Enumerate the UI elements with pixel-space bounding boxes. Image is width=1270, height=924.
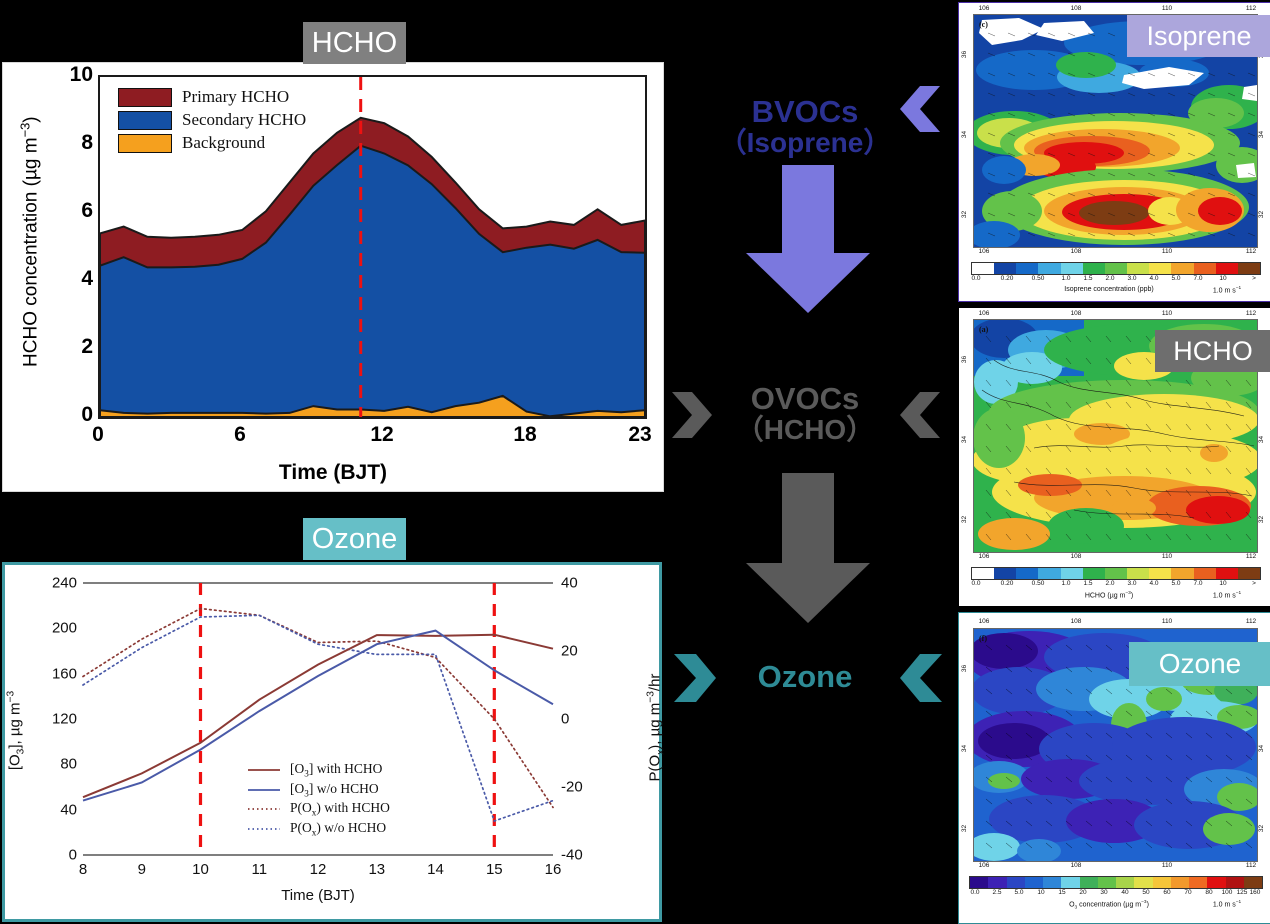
ozone-lat-left: 34: [961, 745, 968, 752]
cb-seg: [1061, 877, 1079, 888]
hcho-ytick: 8: [63, 131, 93, 155]
chevron-right-icon-ovocs: [670, 390, 714, 440]
cb-tick: 0.0: [971, 580, 980, 587]
ozone-lon-top: 110: [1162, 618, 1172, 625]
hcho-lon-top: 112: [1246, 310, 1256, 317]
cb-seg: [1171, 877, 1189, 888]
cb-tick: 1.5: [1083, 275, 1092, 282]
ozone-lon-bottom: 110: [1162, 862, 1172, 869]
cb-seg: [1105, 568, 1127, 579]
isoprene-lon-bottom: 106: [979, 248, 990, 255]
flow-node-ovocs-line1: OVOCs: [690, 382, 920, 415]
ozone-lon-bottom: 112: [1246, 862, 1256, 869]
cb-tick: 40: [1121, 889, 1128, 896]
cb-seg: [1127, 568, 1149, 579]
flow-node-bvocs-line2: （Isoprene）: [690, 128, 920, 158]
ozone-right-ytick: -20: [561, 779, 601, 796]
cb-seg: [1216, 568, 1238, 579]
cb-tick: 7.0: [1193, 275, 1202, 282]
ozone-left-ytick: 80: [33, 756, 77, 773]
ozone-x-axis-label: Time (BJT): [83, 887, 553, 904]
cb-seg: [972, 263, 994, 274]
cb-seg: [1189, 877, 1207, 888]
ozone-right-y-axis-label: P(Ox), µg m−3/hr: [646, 638, 667, 818]
badge-isoprene-map: Isoprene: [1127, 15, 1270, 57]
cb-seg: [1083, 568, 1105, 579]
hcho-xtick: 6: [234, 423, 246, 447]
isoprene-lon-bottom: 110: [1162, 248, 1172, 255]
cb-tick: 3.0: [1127, 275, 1136, 282]
ozone-lat-left: 36: [961, 665, 968, 672]
hcho-lon-top: 110: [1162, 310, 1172, 317]
ozone-right-ytick: 0: [561, 711, 601, 728]
ozone-legend: [O3] with HCHO [O3] w/o HCHO P(Ox) with …: [247, 761, 390, 838]
hcho-map-panel: 106 108 110 112 36 34 32 36 34 32: [958, 307, 1270, 607]
legend-item-secondary-hcho: Secondary HCHO: [118, 110, 306, 130]
cb-seg: [1244, 877, 1262, 888]
cb-tick: 3.0: [1127, 580, 1136, 587]
flow-node-bvocs-line1: BVOCs: [690, 95, 920, 128]
badge-hcho-map-label: HCHO: [1173, 336, 1253, 367]
legend-item-pox-with-hcho: P(Ox) with HCHO: [247, 800, 390, 818]
ozone-xtick: 8: [79, 861, 87, 878]
cb-tick: 5.0: [1014, 889, 1023, 896]
badge-ozone-chart: Ozone: [303, 518, 406, 560]
ozone-lon-top: 106: [979, 618, 990, 625]
cb-tick: 80: [1205, 889, 1212, 896]
hcho-x-axis-label: Time (BJT): [3, 461, 663, 485]
ozone-map-panel: 106 108 110 112 36 34 32 36 34 32: [958, 612, 1270, 924]
hcho-xtick: 23: [628, 423, 651, 447]
ozone-xtick: 13: [368, 861, 385, 878]
ozone-lat-right: 34: [1258, 745, 1265, 752]
legend-line-o3-with-hcho: [247, 765, 281, 775]
legend-item-pox-wo-hcho: P(Ox) w/o HCHO: [247, 820, 390, 838]
legend-swatch-primary-hcho: [118, 88, 172, 107]
cb-tick: 0.0: [970, 889, 979, 896]
isoprene-lon-top: 110: [1162, 5, 1172, 12]
isoprene-colorbar: [971, 262, 1261, 275]
cb-tick: 50: [1142, 889, 1149, 896]
cb-tick: 70: [1184, 889, 1191, 896]
isoprene-lat-left: 32: [961, 211, 968, 218]
flow-node-ozone: Ozone: [690, 660, 920, 693]
cb-seg: [994, 263, 1016, 274]
cb-tick: 30: [1100, 889, 1107, 896]
ozone-lon-bottom: 108: [1071, 862, 1082, 869]
cb-seg: [1116, 877, 1134, 888]
isoprene-wind-reference: 1.0 m s−1: [1189, 286, 1265, 294]
cb-tick: 1.0: [1061, 275, 1070, 282]
isoprene-lat-right: 34: [1258, 131, 1265, 138]
cb-seg: [1043, 877, 1061, 888]
cb-seg: [972, 568, 994, 579]
ozone-xtick: 12: [310, 861, 327, 878]
cb-seg: [1061, 263, 1083, 274]
hcho-map-panel-tag: (a): [979, 325, 988, 334]
cb-tick: 2.0: [1105, 275, 1114, 282]
hcho-ytick: 2: [63, 335, 93, 359]
cb-seg: [1016, 568, 1038, 579]
cb-seg: [1149, 568, 1171, 579]
ozone-plot-area: [O3] with HCHO [O3] w/o HCHO P(Ox) with …: [83, 583, 553, 855]
ozone-left-ytick: 160: [33, 665, 77, 682]
cb-seg: [1127, 263, 1149, 274]
hcho-plot-area: Primary HCHO Secondary HCHO Background: [98, 75, 647, 419]
flow-node-bvocs: BVOCs （Isoprene）: [690, 95, 920, 159]
cb-seg: [1207, 877, 1225, 888]
cb-tick: 0.50: [1032, 580, 1045, 587]
ozone-right-y-ticks: 40 20 0 -20 -40: [561, 583, 601, 855]
cb-seg: [1007, 877, 1025, 888]
ozone-wind-reference: 1.0 m s−1: [1189, 900, 1265, 908]
ozone-lon-top: 108: [1071, 618, 1082, 625]
hcho-lat-left: 32: [961, 516, 968, 523]
chevron-left-icon-ozone: [898, 652, 944, 704]
cb-tick: 0.20: [1001, 580, 1014, 587]
cb-seg: [1216, 263, 1238, 274]
isoprene-colorbar-labels: 0.0 0.20 0.50 1.0 1.5 2.0 3.0 4.0 5.0 7.…: [971, 275, 1259, 285]
hcho-ytick: 0: [63, 403, 93, 427]
ozone-lon-bottom: 106: [979, 862, 990, 869]
cb-seg: [1238, 263, 1260, 274]
cb-tick: 1.0: [1061, 580, 1070, 587]
ozone-left-y-axis-label: [O3], µg m−3: [6, 651, 27, 811]
legend-label-o3-with-hcho: [O3] with HCHO: [290, 761, 382, 779]
ozone-xtick: 9: [138, 861, 146, 878]
hcho-lon-top: 108: [1071, 310, 1082, 317]
ozone-left-ytick: 120: [33, 711, 77, 728]
cb-seg: [1149, 263, 1171, 274]
arrow-down-icon-bvocs-to-ovocs: [740, 165, 876, 315]
badge-ozone-chart-label: Ozone: [312, 523, 397, 556]
ozone-left-ytick: 40: [33, 801, 77, 818]
legend-line-pox-with-hcho: [247, 804, 281, 814]
cb-tick: 1.5: [1083, 580, 1092, 587]
hcho-wind-reference: 1.0 m s−1: [1189, 591, 1265, 599]
cb-tick: 0.20: [1001, 275, 1014, 282]
hcho-lat-left: 34: [961, 436, 968, 443]
ozone-xtick: 16: [545, 861, 562, 878]
legend-label-primary-hcho: Primary HCHO: [182, 87, 289, 107]
arrow-down-icon-ovocs-to-ozone: [740, 473, 876, 625]
hcho-y-axis-label: HCHO concentration (µg m−3): [17, 77, 42, 407]
badge-hcho-chart: HCHO: [303, 22, 406, 64]
legend-line-pox-wo-hcho: [247, 824, 281, 834]
flow-node-ozone-line1: Ozone: [690, 660, 920, 693]
legend-label-o3-wo-hcho: [O3] w/o HCHO: [290, 781, 379, 799]
ozone-right-ytick: 20: [561, 643, 601, 660]
cb-seg: [988, 877, 1006, 888]
ozone-lat-right: 32: [1258, 825, 1265, 832]
ozone-right-ytick: -40: [561, 847, 601, 864]
hcho-y-ticks: 10 8 6 4 2 0: [51, 75, 93, 415]
ozone-colorbar-labels: 0.0 2.5 5.0 10 15 20 30 40 50 60 70 80 1…: [969, 889, 1261, 899]
ozone-left-y-ticks: 240 200 160 120 80 40 0: [33, 583, 77, 855]
cb-seg: [1080, 877, 1098, 888]
isoprene-lon-top: 106: [979, 5, 990, 12]
series-secondary-hcho-area: [100, 146, 645, 417]
hcho-colorbar-caption: HCHO (µg m−3): [1034, 591, 1184, 599]
legend-item-o3-with-hcho: [O3] with HCHO: [247, 761, 390, 779]
cb-seg: [1171, 568, 1193, 579]
cb-seg: [1016, 263, 1038, 274]
chevron-right-icon-ozone: [672, 652, 718, 704]
ozone-xtick: 14: [427, 861, 444, 878]
cb-tick: 2.5: [992, 889, 1001, 896]
hcho-xtick: 18: [513, 423, 536, 447]
cb-tick: 10: [1219, 580, 1226, 587]
hcho-legend: Primary HCHO Secondary HCHO Background: [118, 87, 306, 153]
cb-seg: [994, 568, 1016, 579]
cb-seg: [1061, 568, 1083, 579]
ozone-xtick: 11: [252, 861, 268, 878]
badge-ozone-map: Ozone: [1129, 642, 1270, 686]
ozone-colorbar-caption: O3 concentration (µg m−3): [1014, 900, 1204, 911]
cb-seg: [1025, 877, 1043, 888]
cb-tick: 0.50: [1032, 275, 1045, 282]
cb-seg: [1038, 263, 1060, 274]
legend-label-secondary-hcho: Secondary HCHO: [182, 110, 306, 130]
cb-tick: 100: [1222, 889, 1233, 896]
cb-seg: [1194, 263, 1216, 274]
badge-hcho-map: HCHO: [1155, 330, 1270, 372]
cb-seg: [1171, 263, 1193, 274]
cb-tick: 4.0: [1149, 275, 1158, 282]
legend-item-o3-wo-hcho: [O3] w/o HCHO: [247, 781, 390, 799]
ozone-left-ytick: 200: [33, 620, 77, 637]
isoprene-lon-top: 108: [1071, 5, 1082, 12]
cb-seg: [1038, 568, 1060, 579]
cb-seg: [970, 877, 988, 888]
cb-tick: 4.0: [1149, 580, 1158, 587]
hcho-lon-bottom: 108: [1071, 553, 1082, 560]
isoprene-lat-right: 32: [1258, 211, 1265, 218]
cb-tick: 60: [1163, 889, 1170, 896]
cb-tick: 2.0: [1105, 580, 1114, 587]
flow-node-ovocs-line2: （HCHO）: [690, 415, 920, 445]
ozone-xtick: 10: [192, 861, 209, 878]
hcho-diurnal-chart: HCHO concentration (µg m−3) Primary HCHO…: [2, 62, 664, 492]
hcho-lon-bottom: 112: [1246, 553, 1256, 560]
legend-label-pox-wo-hcho: P(Ox) w/o HCHO: [290, 820, 386, 838]
hcho-colorbar-labels: 0.0 0.20 0.50 1.0 1.5 2.0 3.0 4.0 5.0 7.…: [971, 580, 1259, 590]
cb-seg: [1134, 877, 1152, 888]
ozone-map-panel-tag: (f): [979, 634, 987, 643]
cb-tick: 125: [1237, 889, 1248, 896]
legend-line-o3-wo-hcho: [247, 785, 281, 795]
hcho-colorbar: [971, 567, 1261, 580]
hcho-ytick: 4: [63, 267, 93, 291]
cb-seg: [1083, 263, 1105, 274]
legend-label-pox-with-hcho: P(Ox) with HCHO: [290, 800, 390, 818]
badge-ozone-map-label: Ozone: [1159, 648, 1242, 680]
isoprene-colorbar-caption: Isoprene concentration (ppb): [1019, 286, 1199, 293]
hcho-lat-right: 34: [1258, 436, 1265, 443]
cb-tick: 5.0: [1171, 580, 1180, 587]
isoprene-map-panel: 106 108 110 112 36 34 32 36 34 32: [958, 2, 1270, 302]
hcho-xtick: 12: [370, 423, 393, 447]
hcho-lon-top: 106: [979, 310, 990, 317]
isoprene-lon-bottom: 108: [1071, 248, 1082, 255]
chevron-left-icon-ovocs: [898, 390, 942, 440]
cb-tick: >: [1252, 580, 1256, 587]
hcho-ytick: 6: [63, 199, 93, 223]
cb-seg: [1238, 568, 1260, 579]
ozone-xtick: 15: [486, 861, 503, 878]
hcho-xtick: 0: [92, 423, 104, 447]
ozone-left-ytick: 0: [33, 847, 77, 864]
ozone-right-ytick: 40: [561, 575, 601, 592]
cb-seg: [1098, 877, 1116, 888]
cb-tick: 10: [1037, 889, 1044, 896]
isoprene-lat-left: 34: [961, 131, 968, 138]
hcho-lat-left: 36: [961, 356, 968, 363]
hcho-lon-bottom: 110: [1162, 553, 1172, 560]
hcho-ytick: 10: [63, 63, 93, 87]
ozone-lat-left: 32: [961, 825, 968, 832]
isoprene-lon-bottom: 112: [1246, 248, 1256, 255]
badge-hcho-chart-label: HCHO: [312, 27, 397, 60]
cb-tick: 20: [1079, 889, 1086, 896]
flow-node-ovocs: OVOCs （HCHO）: [690, 382, 920, 446]
cb-seg: [1105, 263, 1127, 274]
ozone-lon-top: 112: [1246, 618, 1256, 625]
chevron-left-icon-bvocs: [898, 84, 942, 134]
legend-item-background: Background: [118, 133, 306, 153]
hcho-lat-right: 32: [1258, 516, 1265, 523]
isoprene-panel-tag: (c): [979, 20, 988, 29]
cb-tick: 5.0: [1171, 275, 1180, 282]
legend-swatch-background: [118, 134, 172, 153]
legend-label-background: Background: [182, 133, 265, 153]
cb-tick: >: [1252, 275, 1256, 282]
isoprene-lon-top: 112: [1246, 5, 1256, 12]
ozone-sensitivity-chart: [O3], µg m−3 P(Ox), µg m−3/hr [O3] with …: [2, 562, 662, 922]
cb-tick: 15: [1058, 889, 1065, 896]
badge-isoprene-map-label: Isoprene: [1146, 21, 1251, 52]
legend-item-primary-hcho: Primary HCHO: [118, 87, 306, 107]
cb-tick: 10: [1219, 275, 1226, 282]
ozone-colorbar: [969, 876, 1263, 889]
legend-swatch-secondary-hcho: [118, 111, 172, 130]
ozone-left-ytick: 240: [33, 575, 77, 592]
cb-tick: 160: [1250, 889, 1261, 896]
isoprene-lat-left: 36: [961, 51, 968, 58]
cb-seg: [1153, 877, 1171, 888]
cb-tick: 0.0: [971, 275, 980, 282]
cb-seg: [1194, 568, 1216, 579]
cb-tick: 7.0: [1193, 580, 1202, 587]
cb-seg: [1226, 877, 1244, 888]
hcho-lon-bottom: 106: [979, 553, 990, 560]
